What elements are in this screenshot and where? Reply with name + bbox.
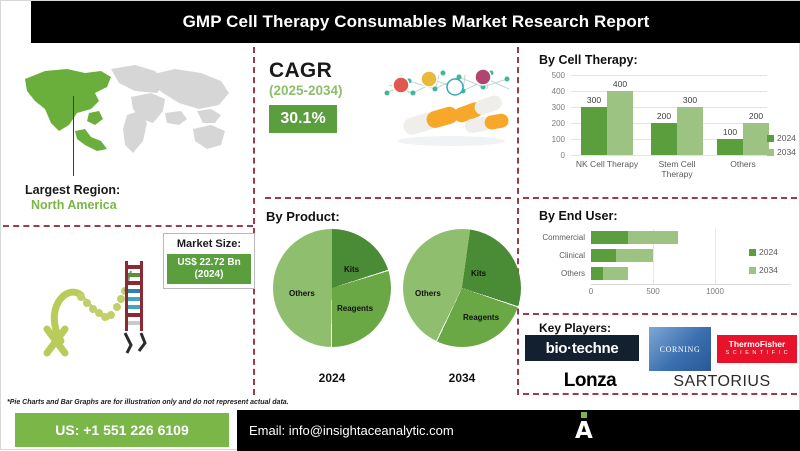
bar-stem-2034: [677, 107, 703, 155]
divider-horizontal-left: [3, 225, 253, 227]
logo-corning: CORNING: [649, 327, 711, 371]
pie-chart-2024: [273, 229, 391, 347]
dna-chromosome-icon: [31, 241, 171, 381]
bar-others-2034-h: [603, 267, 628, 280]
logo-thermo-fisher: ThermoFisher S C I E N T I F I C: [717, 335, 797, 363]
bar-value-others-2024: 100: [715, 127, 745, 137]
divider-vertical-right: [517, 47, 519, 395]
y-axis-label-commercial: Commercial: [523, 233, 585, 242]
cagr-value-badge: 30.1%: [269, 105, 337, 133]
divider-vertical-left: [253, 47, 255, 395]
largest-region-value: North America: [31, 198, 117, 212]
logo-sartorius: SARTORIUS: [657, 371, 787, 393]
y-axis-tick-500: 500: [523, 71, 565, 80]
page-title: GMP Cell Therapy Consumables Market Rese…: [183, 12, 650, 32]
gridline-500: [571, 75, 767, 76]
y-axis-tick-200: 200: [523, 119, 565, 128]
legend-item-enduser-2024: 2024: [749, 247, 778, 257]
header-bar: GMP Cell Therapy Consumables Market Rese…: [31, 1, 800, 43]
legend-item-enduser-2034: 2034: [749, 265, 778, 275]
world-map-icon: [15, 53, 243, 173]
bar-value-nk-2034: 400: [605, 79, 635, 89]
x-axis-label-nk: NK Cell Therapy: [575, 159, 639, 169]
bar-commercial-2034: [628, 231, 678, 244]
brand-logo: A: [575, 416, 601, 446]
bar-stem-2024: [651, 123, 677, 155]
infographic-page: GMP Cell Therapy Consumables Market Rese…: [0, 0, 800, 450]
divider-horizontal-right-bottom: [523, 313, 797, 315]
footer-phone[interactable]: US: +1 551 226 6109: [15, 413, 229, 447]
key-players-title: Key Players:: [539, 321, 611, 335]
legend-item-2034: 2034: [767, 147, 796, 157]
y-axis-label-clinical: Clinical: [523, 251, 585, 260]
by-cell-therapy-title: By Cell Therapy:: [539, 53, 638, 67]
bar-nk-2034: [607, 91, 633, 155]
x-axis-tick-500: 500: [638, 287, 668, 296]
by-end-user-chart: Commercial Clinical Others 0 500 1000 20…: [523, 227, 791, 307]
bar-value-stem-2034: 300: [675, 95, 705, 105]
bar-clinical-2024: [591, 249, 616, 262]
logo-thermo-line1: ThermoFisher: [729, 340, 786, 349]
market-size-card: Market Size: US$ 22.72 Bn (2024): [163, 233, 255, 289]
x-axis-line: [591, 284, 791, 285]
by-end-user-title: By End User:: [539, 209, 618, 223]
pie-chart-2034: [403, 229, 521, 347]
divider-horizontal-right-top: [523, 197, 797, 199]
logo-lonza: Lonza: [535, 369, 645, 393]
legend-item-2024: 2024: [767, 133, 796, 143]
y-axis-tick-0: 0: [523, 151, 565, 160]
legend-label-2024: 2024: [777, 133, 796, 143]
pie-2024-caption: 2024: [297, 371, 367, 385]
gridline-1000-vertical: [715, 229, 716, 284]
cagr-title: CAGR: [269, 59, 332, 83]
legend-swatch-enduser-2024: [749, 249, 756, 256]
largest-region-label: Largest Region:: [25, 183, 120, 197]
bar-others-2024: [717, 139, 743, 155]
divider-horizontal-right-footer: [523, 393, 797, 395]
legend-swatch-2024: [767, 135, 774, 142]
legend-swatch-2034: [767, 149, 774, 156]
footer-contact-bar: Email: info@insightaceanalytic.com A: [237, 410, 800, 451]
y-axis-label-others: Others: [523, 269, 585, 278]
legend-label-2034: 2034: [777, 147, 796, 157]
bar-clinical-2034: [616, 249, 653, 262]
bar-value-stem-2024: 200: [649, 111, 679, 121]
pie-2034-caption: 2034: [427, 371, 497, 385]
market-size-amount: US$ 22.72 Bn: [177, 257, 240, 269]
pie-2034-slice-kits: Kits: [471, 269, 486, 278]
pie-2034-slice-reagents: Reagents: [463, 313, 499, 322]
pie-2024-slice-reagents: Reagents: [337, 304, 373, 313]
y-axis-tick-100: 100: [523, 135, 565, 144]
disclaimer-text: *Pie Charts and Bar Graphs are for illus…: [7, 399, 289, 406]
legend-label-enduser-2024: 2024: [759, 247, 778, 257]
x-axis-tick-0: 0: [576, 287, 606, 296]
bar-value-nk-2024: 300: [579, 95, 609, 105]
divider-horizontal-middle: [265, 197, 511, 199]
map-pointer-line: [73, 96, 74, 176]
legend-label-enduser-2034: 2034: [759, 265, 778, 275]
pills-molecule-icon: [379, 63, 515, 153]
pie-2024-slice-kits: Kits: [344, 265, 359, 274]
bar-commercial-2024: [591, 231, 628, 244]
x-axis-label-stem: Stem Cell Therapy: [645, 159, 709, 179]
market-size-title: Market Size:: [164, 234, 254, 254]
by-cell-therapy-chart: 500 400 300 200 100 0 300 400 200 300 10…: [523, 71, 791, 181]
bar-others-2034: [743, 123, 769, 155]
logo-biotechne: bio·techne: [525, 335, 639, 361]
by-product-title: By Product:: [266, 209, 340, 224]
bar-value-others-2034: 200: [741, 111, 771, 121]
gridline-400: [571, 91, 767, 92]
pie-2024-slice-others: Others: [289, 289, 315, 298]
cagr-period: (2025-2034): [269, 83, 343, 98]
bar-others-2024-h: [591, 267, 603, 280]
y-axis-tick-400: 400: [523, 87, 565, 96]
market-size-value-block: US$ 22.72 Bn (2024): [167, 254, 251, 284]
x-axis-tick-1000: 1000: [700, 287, 730, 296]
y-axis-tick-300: 300: [523, 103, 565, 112]
x-axis-label-others: Others: [711, 159, 775, 169]
gridline-0: [571, 155, 767, 156]
footer-email[interactable]: Email: info@insightaceanalytic.com: [249, 423, 454, 438]
pie-2034-slice-others: Others: [415, 289, 441, 298]
logo-thermo-line2: S C I E N T I F I C: [725, 349, 788, 358]
bar-nk-2024: [581, 107, 607, 155]
market-size-year: (2024): [195, 269, 224, 281]
legend-swatch-enduser-2034: [749, 267, 756, 274]
